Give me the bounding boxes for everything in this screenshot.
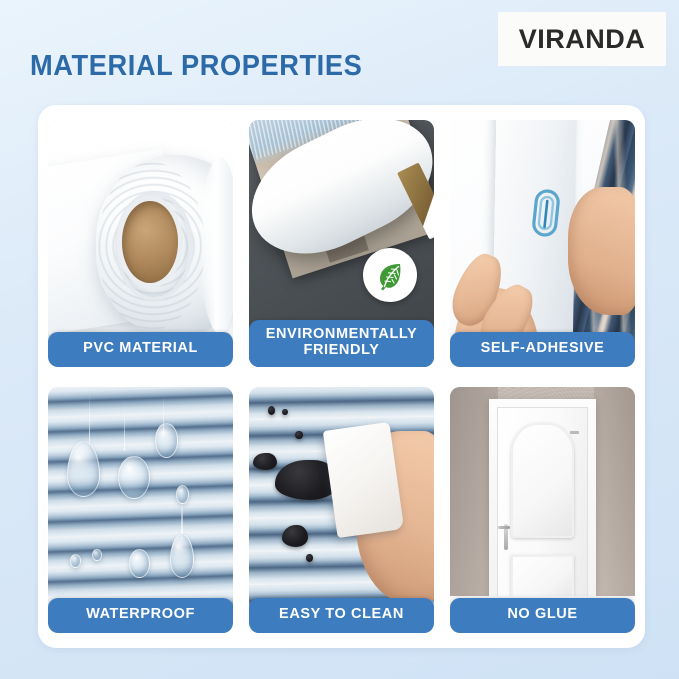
content-panel: PVC MATERIAL	[38, 105, 645, 648]
feature-label-no-glue: NO GLUE	[450, 598, 635, 633]
wall-right-shape	[594, 387, 635, 599]
ink-stain	[282, 409, 288, 415]
feature-label-environmentally-friendly: ENVIRONMENTALLY FRIENDLY	[249, 320, 434, 366]
feature-card-no-glue[interactable]: NO GLUE	[450, 387, 635, 634]
water-droplet	[170, 534, 194, 578]
feature-label-line-1: ENVIRONMENTALLY	[253, 327, 430, 343]
material-properties-infographic: VIRANDA MATERIAL PROPERTIES PVC MATERIAL	[0, 0, 679, 679]
feature-card-pvc-material[interactable]: PVC MATERIAL	[48, 120, 233, 367]
water-droplet	[92, 549, 101, 561]
right-hand-shape	[568, 187, 635, 315]
brand-logo: VIRANDA	[498, 12, 666, 66]
ink-stain	[282, 525, 308, 547]
water-droplet	[129, 549, 150, 578]
feature-card-self-adhesive[interactable]: SELF-ADHESIVE	[450, 120, 635, 367]
feature-label-self-adhesive: SELF-ADHESIVE	[450, 332, 635, 367]
water-droplet	[70, 554, 81, 568]
leaf-icon	[363, 248, 417, 302]
page-title: MATERIAL PROPERTIES	[30, 50, 362, 83]
feature-card-waterproof[interactable]: WATERPROOF	[48, 387, 233, 634]
water-droplet	[176, 485, 189, 504]
feature-label-pvc-material: PVC MATERIAL	[48, 332, 233, 367]
feature-label-waterproof: WATERPROOF	[48, 598, 233, 633]
feature-grid: PVC MATERIAL	[48, 120, 635, 633]
water-droplet	[155, 423, 177, 457]
ink-stain	[268, 406, 275, 415]
pvc-roll-image	[48, 120, 233, 367]
roll-cardboard-core	[122, 201, 178, 282]
ink-stain	[253, 453, 277, 470]
self-adhesive-image	[450, 120, 635, 367]
feature-card-environmentally-friendly[interactable]: ENVIRONMENTALLY FRIENDLY	[249, 120, 434, 367]
door-slab-shape	[497, 407, 587, 615]
door-handle-icon	[504, 524, 508, 550]
easy-to-clean-image	[249, 387, 434, 634]
door-panel-top	[511, 423, 574, 538]
feature-label-line-2: FRIENDLY	[253, 343, 430, 359]
droplet-trail	[124, 401, 126, 450]
droplet-trail	[89, 391, 91, 445]
paperclip-icon	[529, 185, 564, 240]
water-droplet	[118, 456, 150, 500]
feature-label-easy-to-clean: EASY TO CLEAN	[249, 598, 434, 633]
feature-card-easy-to-clean[interactable]: EASY TO CLEAN	[249, 387, 434, 634]
door-frame-shape	[489, 399, 596, 616]
ink-stain	[295, 431, 302, 439]
brand-name: VIRANDA	[519, 24, 646, 55]
water-droplet	[67, 441, 100, 497]
no-glue-image	[450, 387, 635, 634]
waterproof-image	[48, 387, 233, 634]
ink-stain	[306, 554, 312, 561]
door-hinge-shape	[570, 431, 579, 434]
